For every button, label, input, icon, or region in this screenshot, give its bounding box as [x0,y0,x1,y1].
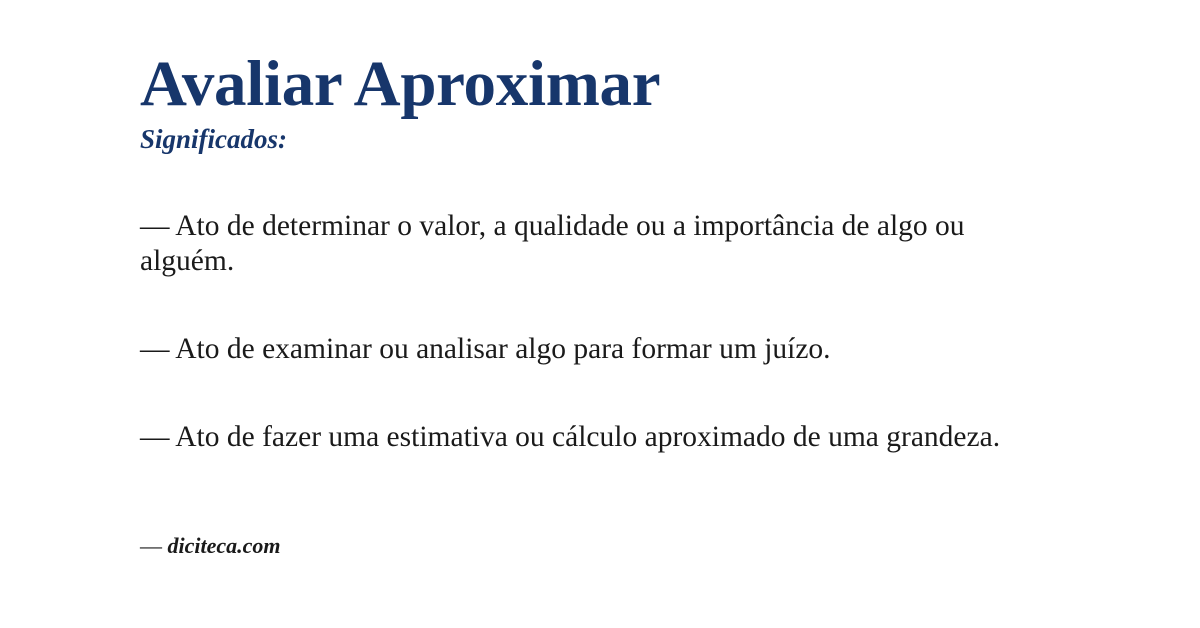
definition-item: — Ato de determinar o valor, a qualidade… [140,209,1065,279]
page-subtitle: Significados: [140,126,1140,153]
definition-item: — Ato de fazer uma estimativa ou cálculo… [140,420,1065,455]
em-dash-bullet-icon: — [140,333,170,365]
em-dash-bullet-icon: — [140,421,170,453]
em-dash-icon: — [140,533,162,558]
definition-text: Ato de examinar ou analisar algo para fo… [175,333,830,365]
page-title: Avaliar Aproximar [140,52,1140,117]
source-attribution: — diciteca.com [140,533,281,559]
definition-text: Ato de fazer uma estimativa ou cálculo a… [175,421,1000,453]
definition-card: Avaliar Aproximar Significados: — Ato de… [0,0,1200,628]
definition-item: — Ato de examinar ou analisar algo para … [140,332,1065,367]
card-header: Avaliar Aproximar Significados: [140,52,1140,153]
em-dash-bullet-icon: — [140,210,170,242]
definition-text: Ato de determinar o valor, a qualidade o… [140,210,965,277]
definition-list: — Ato de determinar o valor, a qualidade… [140,209,1065,455]
source-name: diciteca.com [168,533,281,558]
